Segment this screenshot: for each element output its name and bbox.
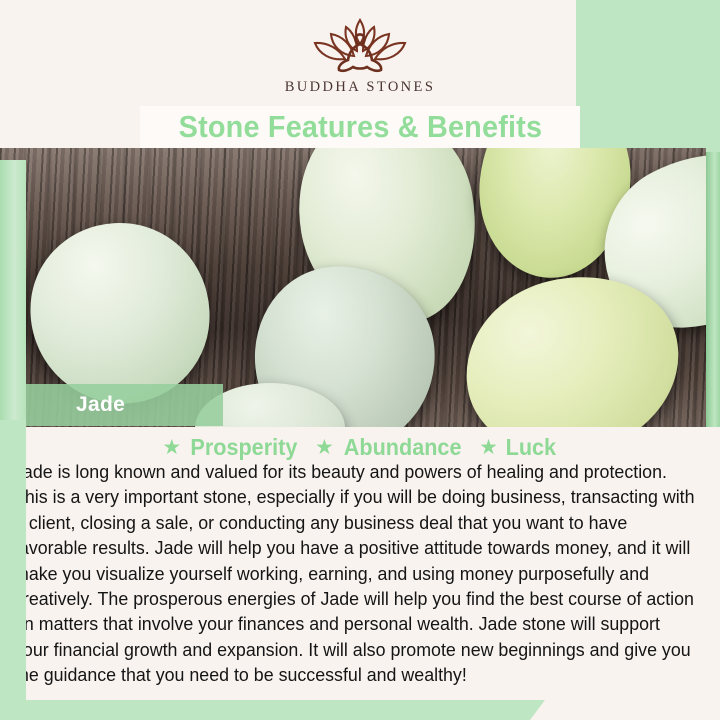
title-banner: Stone Features & Benefits (140, 106, 580, 148)
keyword-label: Prosperity (191, 434, 298, 461)
keyword-item-prosperity: ★ Prosperity (162, 434, 301, 461)
star-icon: ★ (162, 437, 181, 458)
brand-header: BUDDHA STONES (0, 0, 720, 110)
keyword-label: Luck (506, 434, 556, 461)
decorative-band-bottom (0, 700, 560, 720)
brand-name: BUDDHA STONES (285, 79, 436, 96)
keyword-item-abundance: ★ Abundance (315, 434, 465, 461)
keyword-row: ★ Prosperity ★ Abundance ★ Luck (0, 432, 720, 462)
keyword-item-luck: ★ Luck (479, 434, 558, 461)
stone-name-band: Jade (26, 384, 223, 426)
star-icon: ★ (315, 437, 334, 458)
lotus-meditation-icon (301, 14, 419, 76)
product-info-card: BUDDHA STONES Stone Features & Benefits … (0, 0, 720, 720)
description-text: Jade is long known and valued for its be… (14, 460, 698, 689)
decorative-bar-right (706, 152, 720, 427)
star-icon: ★ (479, 437, 498, 458)
page-title: Stone Features & Benefits (178, 109, 542, 145)
stone-name-label: Jade (76, 393, 125, 417)
decorative-bar-left-shade (0, 160, 26, 420)
keyword-label: Abundance (344, 434, 462, 461)
